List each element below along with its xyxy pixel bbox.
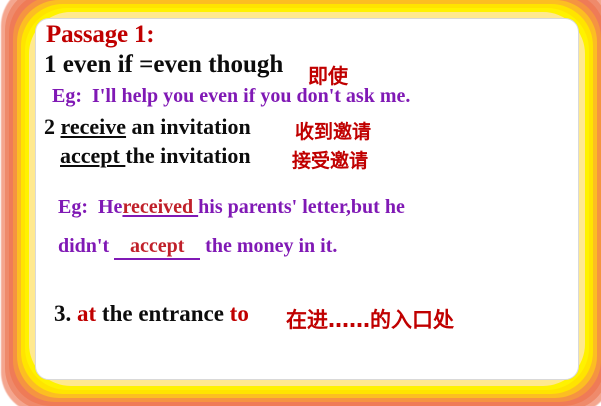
- item-2-answer-received: received: [122, 196, 198, 218]
- item-2-answer-accept: accept: [114, 235, 200, 260]
- item-3-preposition-to: to: [230, 301, 249, 326]
- item-1-example: Eg: I'll help you even if you don't ask …: [52, 85, 410, 108]
- item-1-english: even if =even though: [63, 51, 284, 78]
- item-3-preposition-at: at: [77, 301, 96, 326]
- item-2-example-mid: his parents' letter,but he: [198, 196, 405, 218]
- item-1-example-text: I'll help you even if you don't ask me.: [92, 85, 410, 107]
- item-2-phrase-a-rest: an invitation: [126, 114, 251, 139]
- item-2-phrase-b-rest: the invitation: [125, 143, 250, 168]
- item-2-example-pre: He: [98, 196, 122, 218]
- item-2-keyword-accept: accept: [60, 143, 125, 168]
- item-1-number: 1: [44, 51, 57, 78]
- item-2-keyword-receive: receive: [61, 114, 127, 139]
- lesson-content: Passage 1: 1 even if =even though 即使 Eg:…: [36, 19, 578, 379]
- item-1-example-spacer: [82, 85, 92, 107]
- slide-content-card: Passage 1: 1 even if =even though 即使 Eg:…: [35, 18, 579, 380]
- vocab-item-2: 2 receive an invitation: [44, 114, 251, 140]
- item-2-example-label: Eg:: [58, 196, 88, 218]
- page-title: Passage 1:: [46, 21, 154, 49]
- item-2-example-line2-pre: didn't: [58, 235, 109, 257]
- item-2-example-line-1: Eg: Hereceived his parents' letter,but h…: [58, 196, 405, 219]
- vocab-item-3: 3. at the entrance to: [54, 301, 249, 327]
- slide-canvas: Passage 1: 1 even if =even though 即使 Eg:…: [0, 0, 601, 406]
- item-2-example-spacer: [88, 196, 98, 218]
- item-2-chinese-gloss-b: 接受邀请: [292, 146, 368, 173]
- item-2-example-line2-post: the money in it.: [205, 235, 337, 257]
- vocab-item-2-line-b: accept the invitation: [60, 143, 251, 169]
- item-2-chinese-gloss-a: 收到邀请: [295, 117, 371, 144]
- item-3-number: 3.: [54, 301, 71, 326]
- item-3-chinese-gloss: 在进……的入口处: [286, 304, 454, 334]
- vocab-item-1: 1 even if =even though: [44, 51, 283, 79]
- item-2-example-line-2: didn't accept the money in it.: [58, 235, 337, 260]
- item-2-number: 2: [44, 114, 55, 139]
- item-3-english-mid: the entrance: [102, 301, 224, 326]
- item-1-example-label: Eg:: [52, 85, 82, 107]
